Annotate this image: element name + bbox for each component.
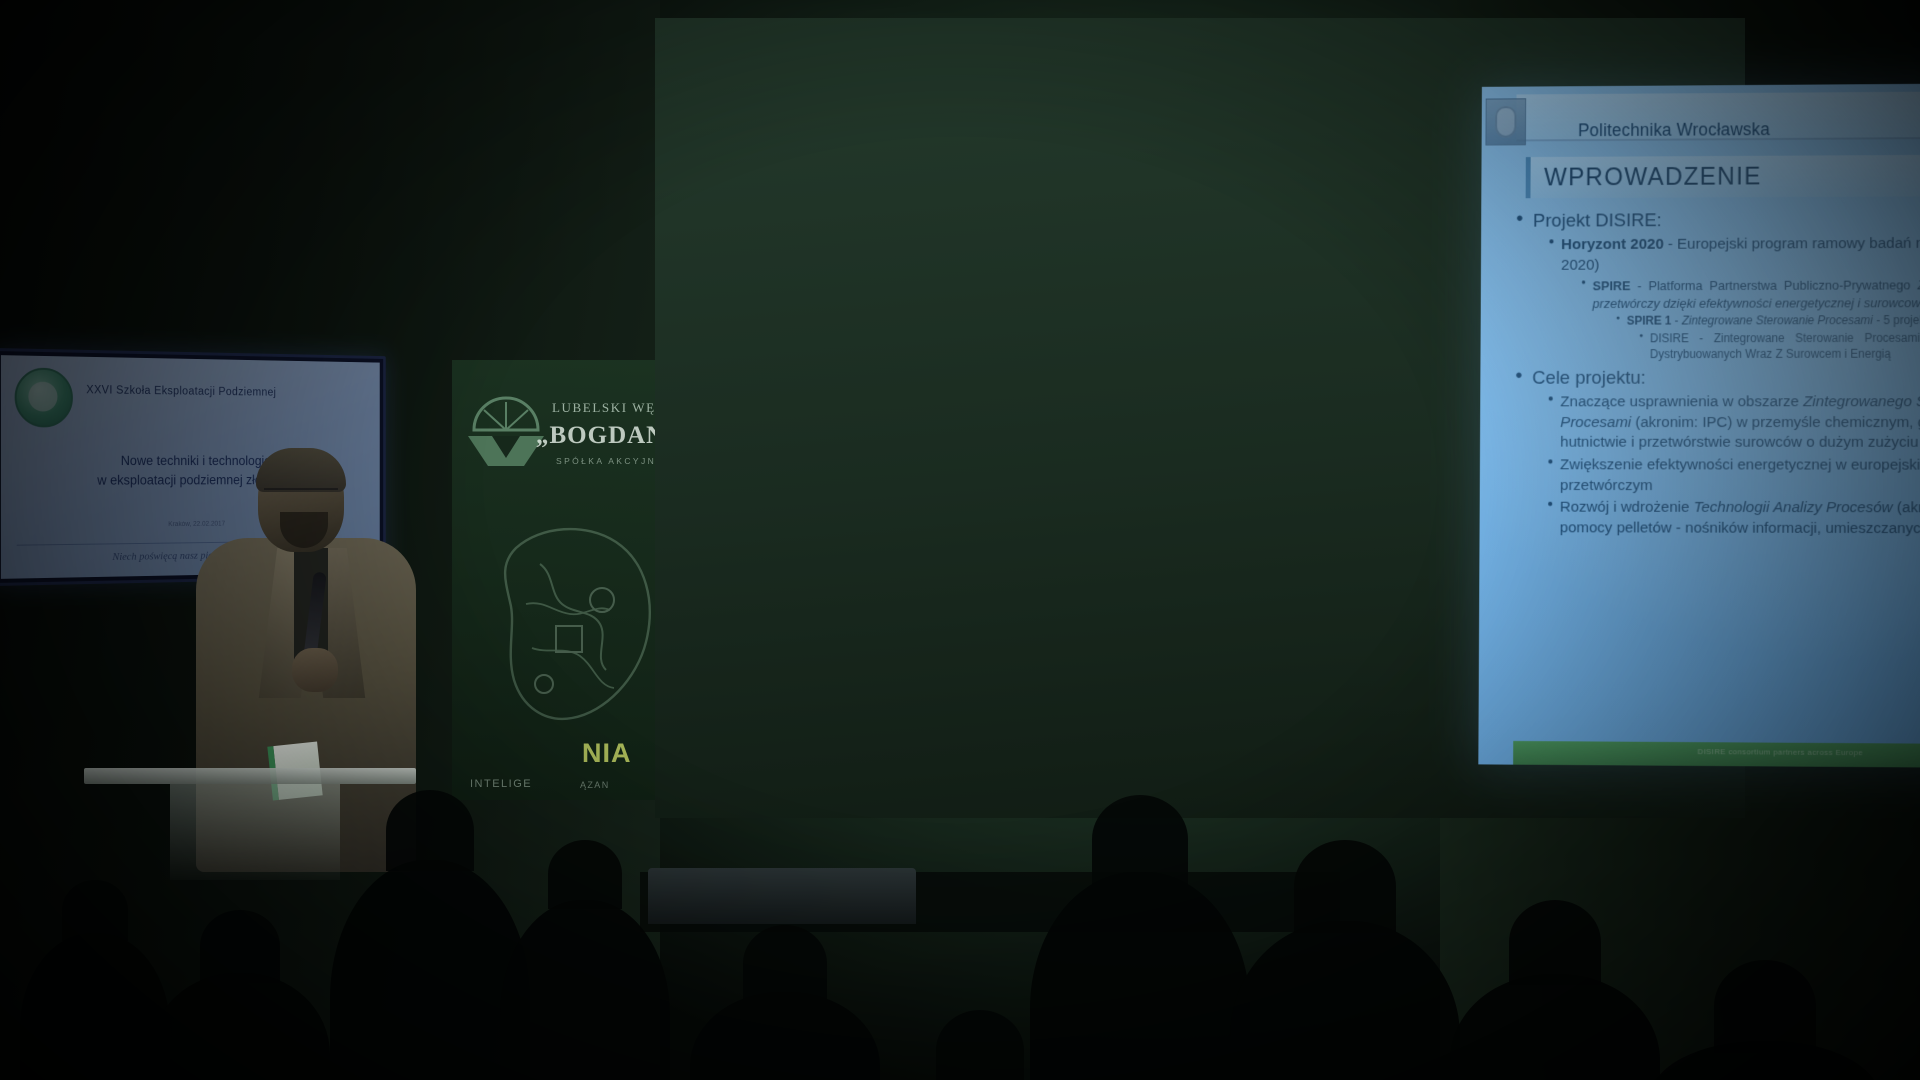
- slide-bullet-level-5: ●DISIRE - Zintegrowane Sterowanie Proces…: [1639, 331, 1920, 363]
- slide-bullet-level-2: ●Horyzont 2020 - Europejski program ramo…: [1548, 234, 1920, 276]
- slide-bullet-level-2: ●Znaczące usprawnienia w obszarze Zinteg…: [1548, 392, 1920, 453]
- banner-word-right: NIA: [582, 738, 632, 769]
- laptop: [648, 868, 916, 924]
- monitor-conference-name: XXVI Szkoła Eksploatacji Podziemnej: [86, 384, 276, 398]
- banner-word-sub: ĄZAN: [580, 780, 610, 790]
- audience-head: [386, 790, 474, 871]
- eyeglasses-icon: [264, 488, 338, 503]
- slide-bullet-level-2: ●Zwiększenie efektywności energetycznej …: [1547, 455, 1920, 496]
- audience-head: [1294, 840, 1395, 933]
- bullet-text: Cele projektu:: [1532, 366, 1646, 391]
- bullet-text-segment: Horyzont 2020: [1561, 236, 1664, 253]
- conference-room-scene: XXVI Szkoła Eksploatacji Podziemnej Nowe…: [0, 0, 1920, 1080]
- slide-title-bar: WPROWADZENIE: [1526, 153, 1920, 198]
- bullet-dot-icon: ●: [1515, 366, 1523, 391]
- bullet-text-segment: Zintegrowane Sterowanie Procesami: [1682, 313, 1873, 327]
- audience-head: [743, 925, 827, 1002]
- university-name: Politechnika Wrocławska: [1578, 119, 1770, 141]
- brain-graphic-icon: [470, 508, 670, 758]
- sponsor-banner: LUBELSKI WĘGIEL „BOGDANKA” SPÓŁKA AKCYJN…: [452, 360, 672, 800]
- eagle-crest-icon: [1485, 98, 1526, 145]
- bullet-text: Horyzont 2020 - Europejski program ramow…: [1561, 234, 1920, 276]
- presenter-hand: [292, 648, 338, 692]
- slide-bullet-list: ●Projekt DISIRE:●Horyzont 2020 - Europej…: [1514, 204, 1920, 542]
- presentation-slide: Politechnika Wrocławska Horizon 2020 Pro…: [1478, 81, 1920, 771]
- slide-header-bar: Politechnika Wrocławska Horizon 2020 Pro…: [1516, 89, 1920, 142]
- bogdanka-mine-wheel-icon: [466, 396, 546, 468]
- slide-footer-caption: DISIRE consortium partners across Europe: [1698, 747, 1864, 757]
- audience-head: [548, 840, 623, 909]
- audience-head: [1509, 900, 1601, 985]
- slide-bullet-level-1: ●Projekt DISIRE:: [1516, 207, 1920, 234]
- audience-shoulders: [1230, 921, 1460, 1080]
- audience-head: [1092, 795, 1189, 884]
- bullet-dot-icon: ●: [1639, 331, 1643, 362]
- bullet-text: Rozwój i wdrożenie Technologii Analizy P…: [1560, 498, 1920, 540]
- bullet-dot-icon: ●: [1548, 393, 1554, 454]
- bullet-dot-icon: ●: [1547, 455, 1553, 496]
- banner-word-left: INTELIGE: [470, 778, 532, 790]
- bullet-text-segment: SPIRE 1: [1627, 314, 1672, 328]
- audience-shoulders: [690, 992, 880, 1080]
- bullet-text: Znaczące usprawnienia w obszarze Zintegr…: [1560, 392, 1920, 453]
- audience-head: [62, 880, 128, 941]
- bullet-dot-icon: ●: [1616, 314, 1620, 330]
- podium-top: [84, 768, 416, 784]
- bullet-text-segment: Cele projektu:: [1532, 368, 1646, 389]
- sponsor-line3: SPÓŁKA AKCYJNA: [556, 456, 664, 466]
- bullet-text-segment: Rozwój i wdrożenie: [1560, 499, 1694, 516]
- bullet-text-segment: - 5 projektów badawczych:: [1873, 313, 1920, 327]
- bullet-text: SPIRE - Platforma Partnerstwa Publiczno-…: [1593, 277, 1920, 312]
- slide-footer-bar: DISIRE consortium partners across Europe: [1513, 741, 1920, 771]
- bullet-text-segment: SPIRE: [1593, 279, 1631, 294]
- bullet-text-segment: - Platforma Partnerstwa Publiczno-Prywat…: [1630, 278, 1917, 294]
- bullet-text: DISIRE - Zintegrowane Sterowanie Procesa…: [1650, 331, 1920, 363]
- bullet-text-segment: Projekt DISIRE:: [1533, 210, 1662, 231]
- slide-bullet-level-3: ●SPIRE - Platforma Partnerstwa Publiczno…: [1581, 277, 1920, 312]
- slide-bullet-level-1: ●Cele projektu:: [1515, 365, 1920, 390]
- bullet-dot-icon: ●: [1548, 236, 1554, 276]
- slide-bullet-level-4: ●SPIRE 1 - Zintegrowane Sterowanie Proce…: [1616, 313, 1920, 330]
- bullet-text-segment: Znaczące usprawnienia w obszarze: [1560, 394, 1803, 411]
- podium-base: [170, 784, 340, 880]
- conference-emblem-icon: [15, 367, 73, 427]
- audience-head: [936, 1010, 1024, 1080]
- bullet-text-segment: Technologii Analizy Procesów: [1694, 499, 1893, 516]
- presenter-hair: [256, 448, 346, 492]
- bullet-dot-icon: ●: [1547, 498, 1553, 539]
- projection-screen-frame: Politechnika Wrocławska Horizon 2020 Pro…: [655, 18, 1745, 818]
- slide-title: WPROWADZENIE: [1544, 162, 1762, 192]
- bullet-text: SPIRE 1 - Zintegrowane Sterowanie Proces…: [1627, 313, 1920, 330]
- audience-head: [200, 910, 279, 983]
- bullet-dot-icon: ●: [1516, 209, 1524, 234]
- bullet-text: Projekt DISIRE:: [1533, 208, 1662, 233]
- slide-bullet-level-2: ●Rozwój i wdrożenie Technologii Analizy …: [1547, 498, 1920, 540]
- bullet-dot-icon: ●: [1581, 278, 1586, 312]
- bullet-text-segment: -: [1671, 314, 1681, 328]
- bullet-text-segment: Zwiększenie efektywności energetycznej w…: [1560, 456, 1920, 493]
- bullet-text: Zwiększenie efektywności energetycznej w…: [1560, 455, 1920, 496]
- audience-head: [1714, 960, 1815, 1053]
- bullet-text-segment: DISIRE - Zintegrowane Sterowanie Procesa…: [1650, 331, 1920, 361]
